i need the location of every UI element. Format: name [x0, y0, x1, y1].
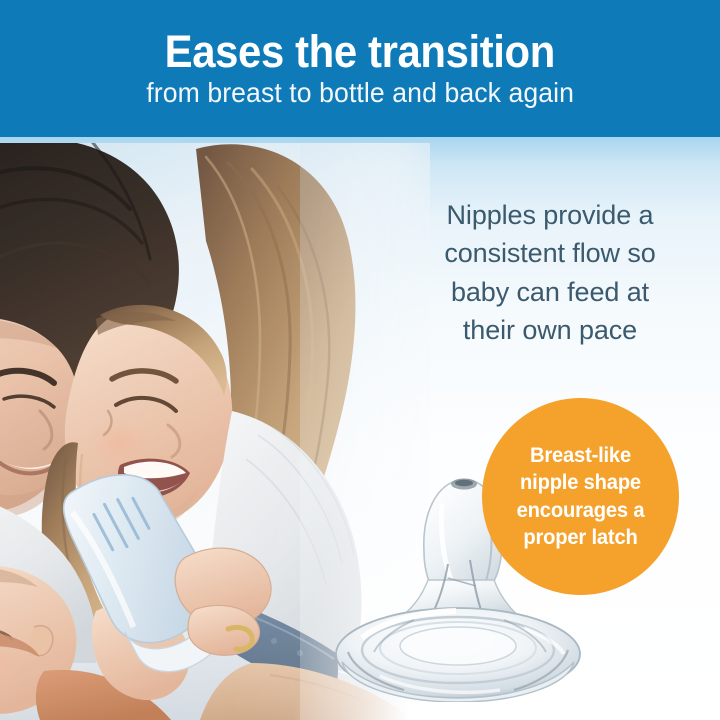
promo-banner: Eases the transition from breast to bott… [0, 0, 720, 720]
feature-description-line: baby can feed at [392, 273, 708, 311]
feature-description: Nipples provide a consistent flow so bab… [392, 196, 708, 349]
feature-badge-line: nipple shape [517, 469, 645, 496]
feature-badge-line: encourages a [517, 497, 645, 524]
feature-description-line: consistent flow so [392, 234, 708, 272]
feature-badge-text: Breast-like nipple shape encourages a pr… [517, 442, 645, 551]
header-banner: Eases the transition from breast to bott… [0, 0, 720, 137]
page-title: Eases the transition [165, 29, 555, 74]
page-subtitle: from breast to bottle and back again [146, 78, 574, 107]
feature-description-line: their own pace [392, 311, 708, 349]
feature-badge-line: Breast-like [517, 442, 645, 469]
feature-badge: Breast-like nipple shape encourages a pr… [482, 398, 679, 595]
feature-description-line: Nipples provide a [392, 196, 708, 234]
feature-badge-line: proper latch [517, 524, 645, 551]
